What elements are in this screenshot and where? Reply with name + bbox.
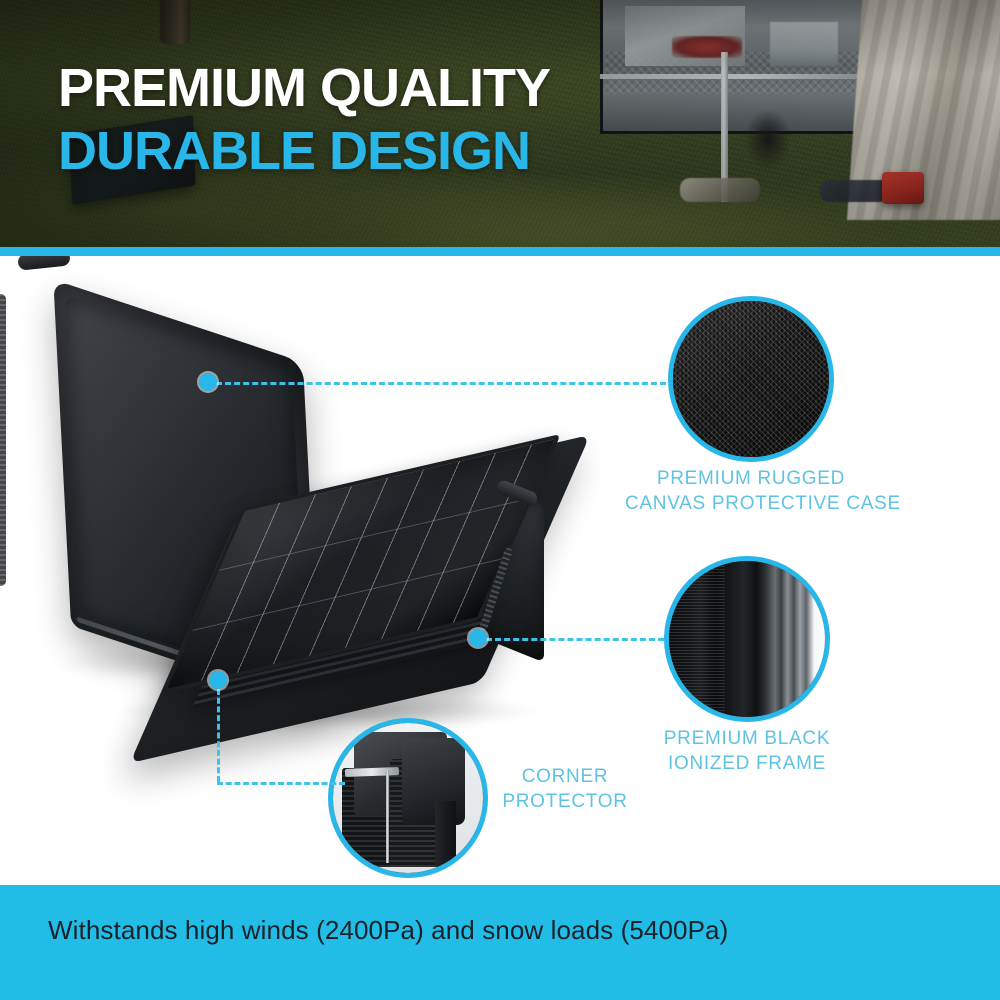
header-hero-photo: PREMIUM QUALITY DURABLE DESIGN	[0, 0, 1000, 247]
panel-assembly	[196, 480, 526, 710]
cp-side-edge	[435, 801, 456, 867]
headline-line-2: DURABLE DESIGN	[58, 125, 550, 178]
callout-dot-corner-protector	[209, 671, 227, 689]
caption-corner-protector-line2: PROTECTOR	[490, 789, 640, 814]
product-image	[0, 256, 560, 726]
leader-line-corner-vertical	[217, 689, 220, 782]
caption-canvas-case: PREMIUM RUGGED CANVAS PROTECTIVE CASE	[625, 466, 877, 517]
caption-corner-protector-line1: CORNER	[490, 764, 640, 789]
corner-protector-swatch	[333, 723, 483, 873]
bottom-banner: Withstands high winds (2400Pa) and snow …	[0, 885, 1000, 1000]
frame-ribbing	[669, 561, 725, 717]
infographic-page: PREMIUM QUALITY DURABLE DESIGN	[0, 0, 1000, 1000]
caption-black-frame: PREMIUM BLACK IONIZED FRAME	[629, 726, 865, 777]
headline-block: PREMIUM QUALITY DURABLE DESIGN	[58, 62, 550, 178]
detail-circle-corner-protector	[328, 718, 488, 878]
accent-divider-bar	[0, 247, 1000, 256]
detail-circle-black-frame	[664, 556, 830, 722]
lid-zipper	[0, 294, 6, 586]
headline-line-1: PREMIUM QUALITY	[58, 62, 550, 115]
callout-dot-black-frame	[469, 629, 487, 647]
leader-line-black-frame	[486, 638, 664, 641]
cp-metal-rod	[386, 770, 390, 863]
canvas-texture-swatch	[673, 301, 829, 457]
leader-line-canvas-case	[216, 382, 666, 385]
banner-text: Withstands high winds (2400Pa) and snow …	[48, 915, 728, 946]
caption-black-frame-line2: IONIZED FRAME	[629, 751, 865, 776]
caption-corner-protector: CORNER PROTECTOR	[490, 764, 640, 815]
caption-canvas-case-line1: PREMIUM RUGGED	[625, 466, 877, 491]
detail-circle-canvas-case	[668, 296, 834, 462]
caption-canvas-case-line2: CANVAS PROTECTIVE CASE	[625, 491, 877, 516]
frame-texture-swatch	[669, 561, 825, 717]
caption-black-frame-line1: PREMIUM BLACK	[629, 726, 865, 751]
leader-line-corner-horizontal	[217, 782, 345, 785]
callout-dot-canvas-case	[199, 373, 217, 391]
product-feature-stage: PREMIUM RUGGED CANVAS PROTECTIVE CASE PR…	[0, 256, 1000, 885]
